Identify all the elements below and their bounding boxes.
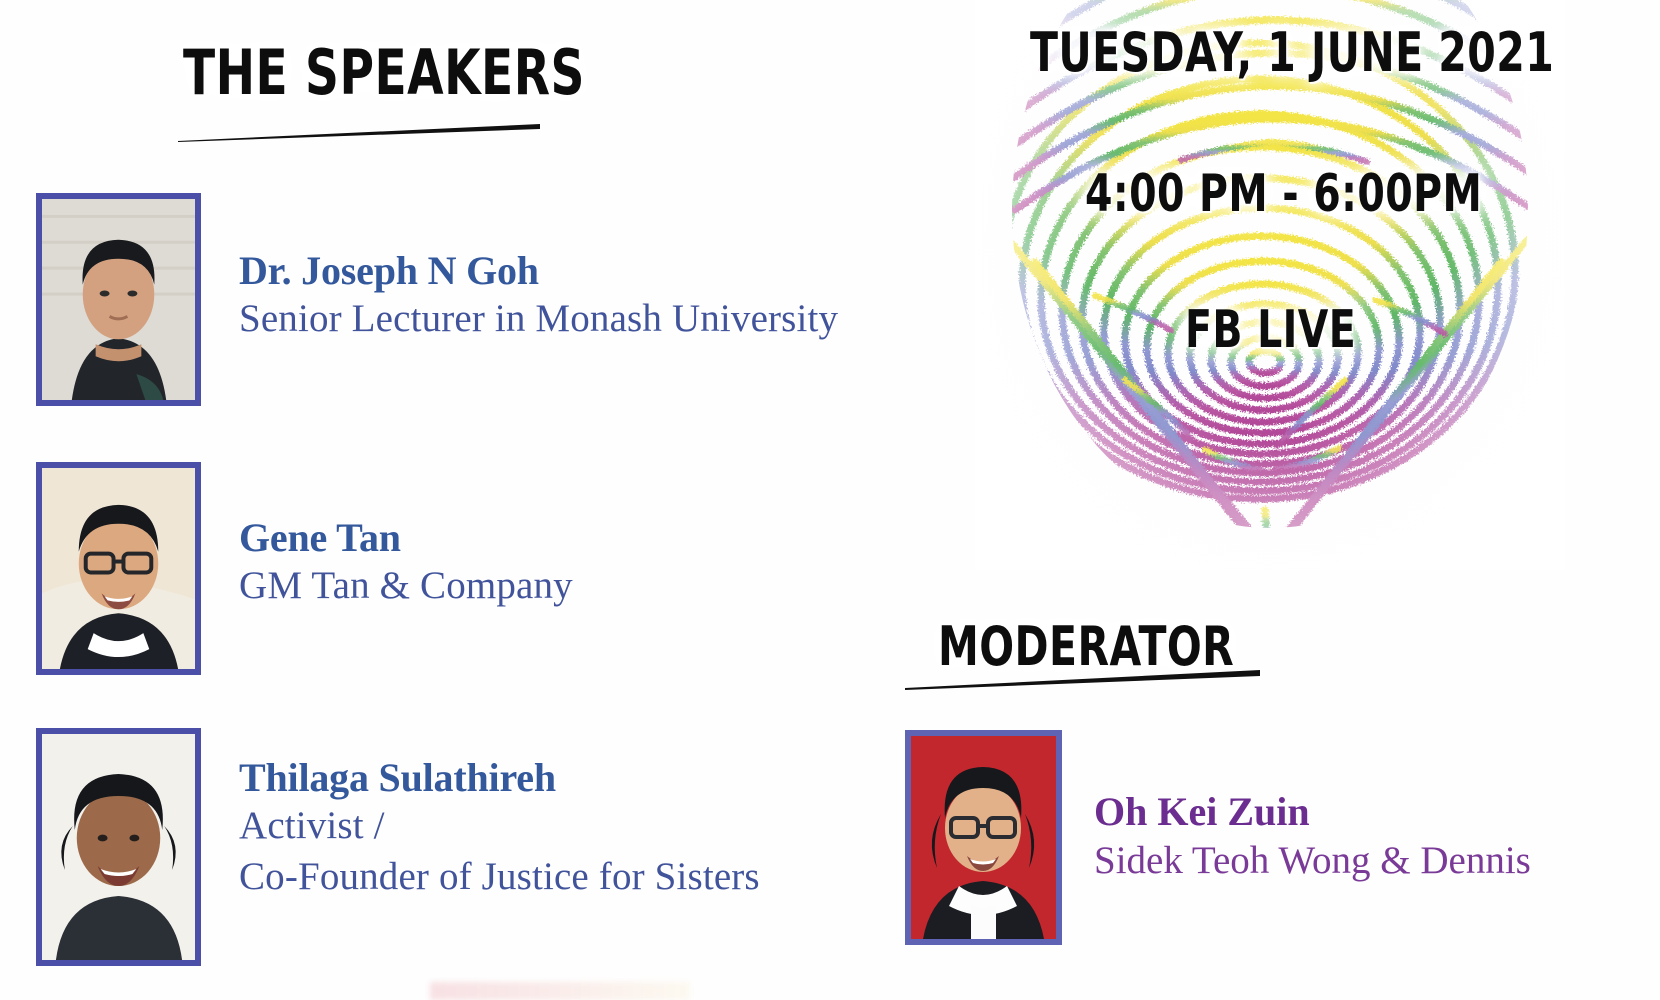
event-poster: THE SPEAKERS: [0, 0, 1660, 1000]
speaker-item: Gene Tan GM Tan & Company: [36, 462, 573, 675]
speakers-heading-text: THE SPEAKERS: [183, 42, 578, 104]
rainbow-fingerprint-graphic: [975, 0, 1565, 570]
speaker-item: Dr. Joseph N Goh Senior Lecturer in Mona…: [36, 193, 838, 406]
event-time-text: 4:00 PM - 6:00PM: [1085, 168, 1482, 220]
speaker-role: Activist /: [239, 801, 760, 852]
photo-thilaga-sulathireh: [36, 728, 201, 966]
photo-gene-tan: [36, 462, 201, 675]
speakers-section-heading: THE SPEAKERS: [183, 42, 703, 104]
speaker-text-block: Gene Tan GM Tan & Company: [239, 462, 573, 612]
moderator-heading-text: MODERATOR: [938, 620, 1234, 674]
speaker-name: Thilaga Sulathireh: [239, 754, 760, 801]
speaker-item: Thilaga Sulathireh Activist / Co-Founder…: [36, 728, 760, 966]
event-date-text: TUESDAY, 1 JUNE 2021: [1030, 26, 1554, 80]
speaker-text-block: Dr. Joseph N Goh Senior Lecturer in Mona…: [239, 193, 838, 345]
moderator-text-block: Oh Kei Zuin Sidek Teoh Wong & Dennis: [1094, 730, 1531, 886]
speakers-heading-underline: [178, 122, 540, 142]
moderator-item: Oh Kei Zuin Sidek Teoh Wong & Dennis: [905, 730, 1531, 945]
event-time: 4:00 PM - 6:00PM: [1085, 168, 1608, 220]
moderator-role: Sidek Teoh Wong & Dennis: [1094, 836, 1531, 886]
event-date: TUESDAY, 1 JUNE 2021: [1030, 26, 1660, 80]
speaker-name: Dr. Joseph N Goh: [239, 247, 838, 294]
moderator-name: Oh Kei Zuin: [1094, 788, 1531, 836]
speaker-role: Senior Lecturer in Monash University: [239, 294, 838, 345]
speaker-text-block: Thilaga Sulathireh Activist / Co-Founder…: [239, 728, 760, 903]
speaker-role: Co-Founder of Justice for Sisters: [239, 852, 760, 903]
decorative-artifact: [430, 982, 690, 1000]
speaker-name: Gene Tan: [239, 514, 573, 561]
event-platform-text: FB LIVE: [1185, 304, 1356, 356]
photo-joseph-n-goh: [36, 193, 201, 406]
photo-oh-kei-zuin: [905, 730, 1062, 945]
moderator-heading-underline: [905, 668, 1260, 690]
event-platform: FB LIVE: [1185, 304, 1410, 356]
speaker-role: GM Tan & Company: [239, 561, 573, 612]
moderator-section-heading: MODERATOR: [938, 620, 1328, 674]
